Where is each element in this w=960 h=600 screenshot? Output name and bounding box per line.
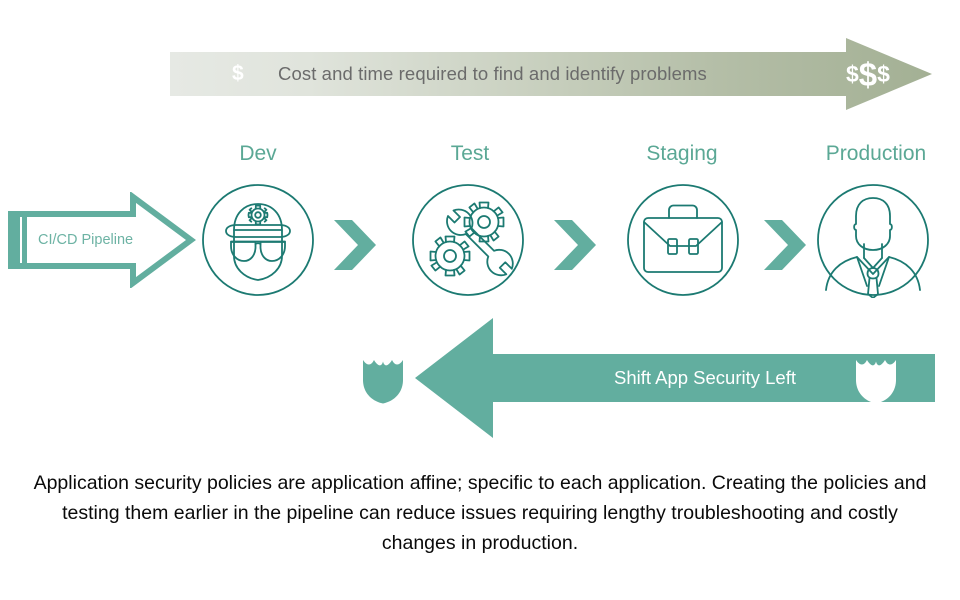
business-person-icon	[812, 182, 934, 298]
cost-dollar-group: $$$	[846, 38, 890, 110]
developer-hardhat-icon	[198, 182, 318, 298]
shield-icon-right	[855, 356, 897, 404]
caption-text: Application security policies are applic…	[30, 468, 930, 558]
briefcase-icon	[622, 182, 744, 298]
chevron-staging-to-production	[762, 218, 808, 272]
cost-dollar-small: $	[232, 38, 244, 110]
stage-label-dev: Dev	[198, 140, 318, 168]
cost-and-time-arrow: $ Cost and time required to find and ide…	[170, 38, 932, 110]
stage-label-test: Test	[408, 140, 532, 168]
cicd-pipeline-label: CI/CD Pipeline	[38, 192, 158, 288]
chevron-dev-to-test	[332, 218, 378, 272]
cost-dollar-2: $	[859, 58, 877, 91]
stage-label-production: Production	[808, 140, 944, 168]
shift-left-label: Shift App Security Left	[575, 318, 835, 438]
stage-label-staging: Staging	[618, 140, 746, 168]
cost-arrow-label: Cost and time required to find and ident…	[278, 38, 707, 110]
chevron-test-to-staging	[552, 218, 598, 272]
wrench-gears-icon	[408, 182, 528, 298]
shield-icon-left	[362, 356, 404, 404]
cost-dollar-1: $	[846, 63, 859, 86]
cost-dollar-3: $	[877, 63, 890, 86]
